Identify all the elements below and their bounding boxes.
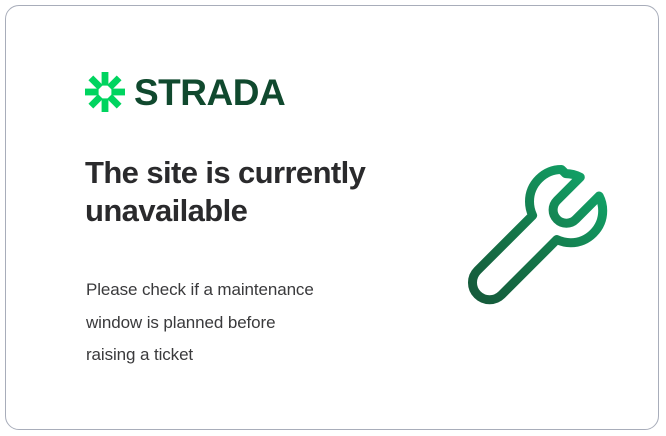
status-description: Please check if a maintenance window is … <box>86 274 396 372</box>
asterisk-star-icon <box>85 72 125 112</box>
brand-wordmark: STRADA <box>134 74 285 111</box>
description-line: raising a ticket <box>86 339 396 372</box>
brand-logo: STRADA <box>85 72 285 112</box>
description-line: window is planned before <box>86 307 396 340</box>
status-card: STRADA The site is currently unavailable… <box>5 5 659 430</box>
wrench-icon <box>458 156 618 316</box>
page-title: The site is currently unavailable <box>85 154 425 231</box>
description-line: Please check if a maintenance <box>86 274 396 307</box>
